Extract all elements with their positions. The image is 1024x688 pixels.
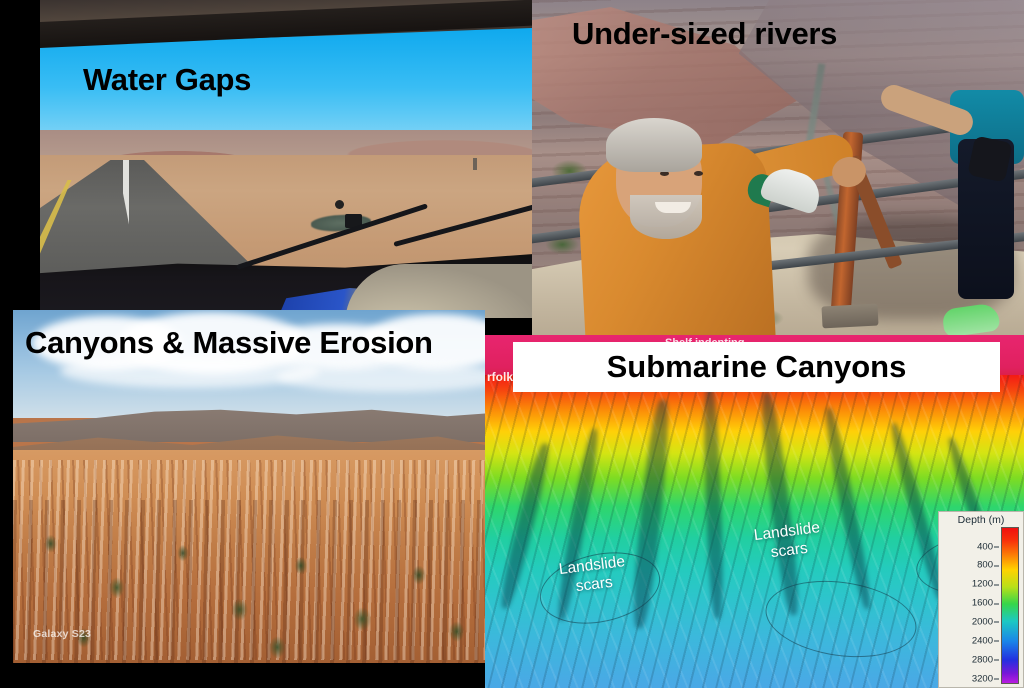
depth-tick: 800 [977,560,993,571]
depth-tick: 1600 [972,598,993,609]
fence-post [473,158,477,170]
camera-watermark: Galaxy S23 [33,628,91,640]
submarine-canyons-title-banner: Submarine Canyons [513,342,1000,392]
depth-tick-labels: 400 800 1200 1600 2000 2400 2800 3200 [941,527,993,684]
panel-water-gaps[interactable] [40,0,532,318]
panel-canyons-massive-erosion[interactable] [13,310,485,663]
depth-tick: 2000 [972,616,993,627]
depth-tick: 2800 [972,654,993,665]
title-water-gaps: Water Gaps [83,62,251,98]
depth-colorbar-legend: Depth (m) 400 800 1200 1600 2000 2400 28… [938,511,1024,688]
depth-color-ramp [1001,527,1019,684]
map-place-label: rfolk [487,370,513,384]
man-smile [655,202,691,213]
man-gray-hair [606,118,702,172]
man-eye-right [694,171,703,176]
slide-canvas: Landslide scars Landslide scars Depth (m… [0,0,1024,688]
depth-tick: 400 [977,541,993,552]
landslide-scars-label-right: Landslide scars [753,519,823,565]
title-submarine-canyons: Submarine Canyons [607,349,907,385]
depth-tick: 3200 [972,673,993,684]
panel-under-sized-rivers[interactable] [532,0,1024,348]
landslide-scars-label-left: Landslide scars [558,553,628,599]
rail-post-base [822,304,879,329]
title-canyons-massive-erosion: Canyons & Massive Erosion [25,325,433,361]
depth-tick: 1200 [972,579,993,590]
depth-tick: 2400 [972,635,993,646]
depth-legend-title: Depth (m) [939,512,1023,527]
depth-legend-body: 400 800 1200 1600 2000 2400 2800 3200 [939,527,1023,687]
title-under-sized-rivers: Under-sized rivers [572,16,837,52]
